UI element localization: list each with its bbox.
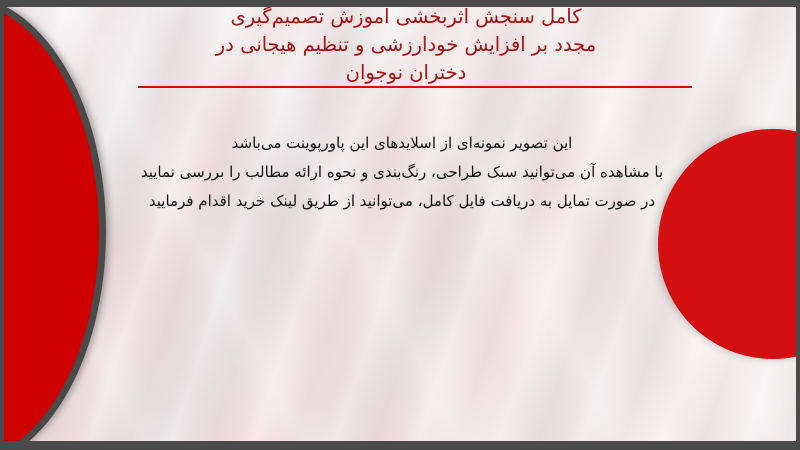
slide-title-line-2: مجدد بر افزایش خودارزشی و تنظیم هیجانی د… xyxy=(124,31,688,59)
slide-body-line-2: با مشاهده آن می‌توانید سبک طراحی، رنگ‌بن… xyxy=(100,158,704,187)
slide-canvas: کامل سنجش اثربخشی آموزش تصمیم‌گیری مجدد … xyxy=(4,7,796,441)
slide-body-line-1: این تصویر نمونه‌ای از اسلایدهای این پاور… xyxy=(100,129,704,158)
slide-title: کامل سنجش اثربخشی آموزش تصمیم‌گیری مجدد … xyxy=(124,7,688,87)
presentation-slide: کامل سنجش اثربخشی آموزش تصمیم‌گیری مجدد … xyxy=(0,0,800,450)
slide-body-text: این تصویر نمونه‌ای از اسلایدهای این پاور… xyxy=(100,129,704,216)
slide-title-line-3: دختران نوجوان xyxy=(124,59,688,87)
slide-title-line-1: کامل سنجش اثربخشی آموزش تصمیم‌گیری xyxy=(124,7,688,31)
red-ellipse-left-icon xyxy=(4,7,106,441)
slide-body-line-3: در صورت تمایل به دریافت فایل کامل، می‌تو… xyxy=(100,187,704,216)
